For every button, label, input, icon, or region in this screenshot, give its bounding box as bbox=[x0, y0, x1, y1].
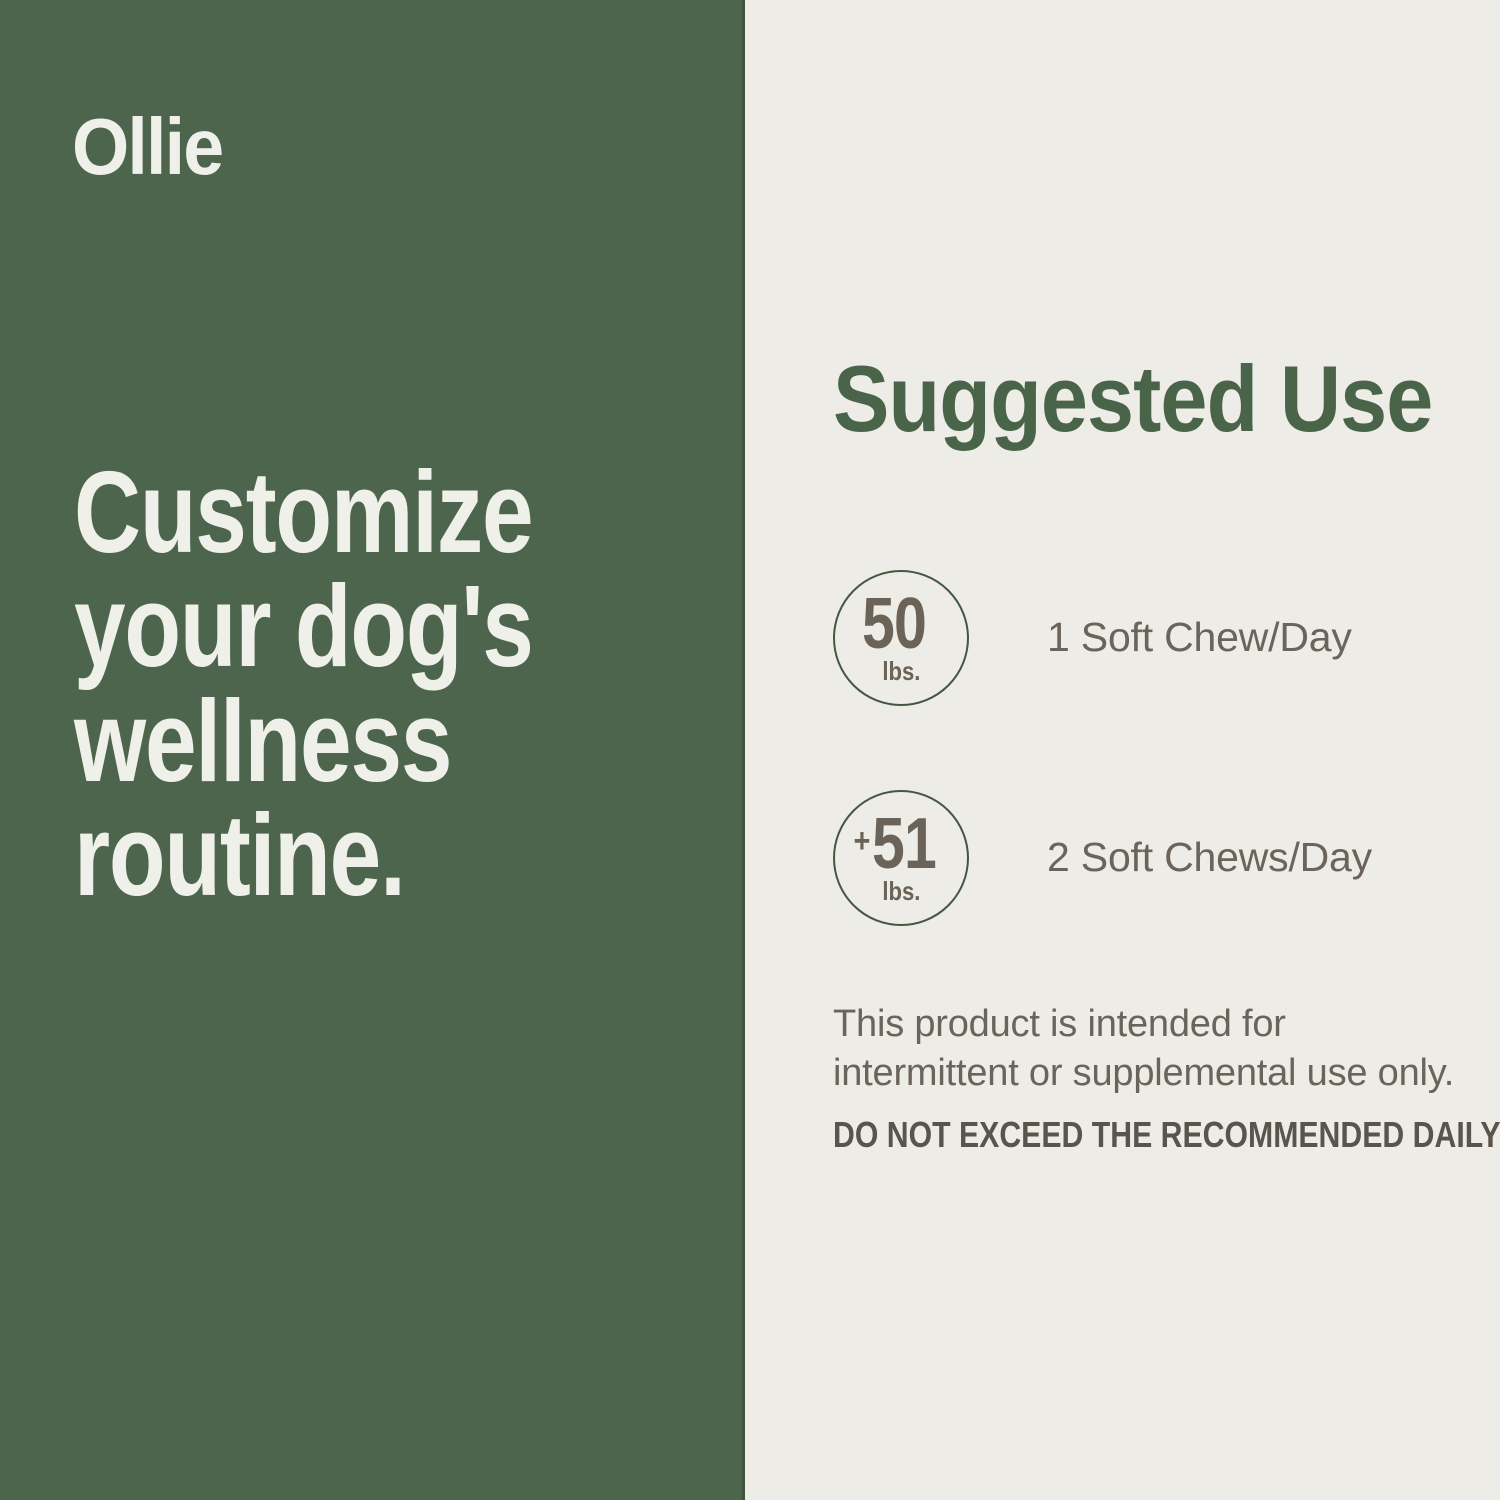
headline-line-4: routine. bbox=[74, 798, 570, 912]
badge-weight-value: + 51 bbox=[852, 812, 951, 877]
dose-row: + 51 lbs. 2 Soft Chews/Day bbox=[833, 790, 1372, 926]
dosage-warning: DO NOT EXCEED THE RECOMMENDED DAILY AMOU… bbox=[833, 1115, 1500, 1155]
headline-line-3: wellness bbox=[74, 684, 570, 798]
badge-plus-sign: + bbox=[853, 824, 870, 858]
badge-unit-label: lbs. bbox=[882, 878, 920, 904]
disclaimer-line-1: This product is intended for bbox=[833, 1000, 1473, 1049]
weight-badge-icon: + 51 lbs. bbox=[833, 790, 969, 926]
right-usage-panel: Suggested Use 50 lbs. 1 Soft Chew/Day + … bbox=[745, 0, 1500, 1500]
product-info-poster: Ollie Customize your dog's wellness rout… bbox=[0, 0, 1500, 1500]
suggested-use-title: Suggested Use bbox=[833, 352, 1432, 446]
ollie-logo: Ollie bbox=[72, 108, 222, 186]
headline-line-2: your dog's bbox=[74, 569, 570, 683]
badge-number: 51 bbox=[872, 812, 936, 877]
left-brand-panel: Ollie Customize your dog's wellness rout… bbox=[0, 0, 745, 1500]
disclaimer-line-2: intermittent or supplemental use only. bbox=[833, 1049, 1473, 1098]
usage-disclaimer: This product is intended for intermitten… bbox=[833, 1000, 1473, 1099]
badge-number: 50 bbox=[862, 592, 926, 657]
dose-description: 1 Soft Chew/Day bbox=[1047, 615, 1352, 660]
dose-row: 50 lbs. 1 Soft Chew/Day bbox=[833, 570, 1352, 706]
badge-unit-label: lbs. bbox=[882, 658, 920, 684]
weight-badge-icon: 50 lbs. bbox=[833, 570, 969, 706]
headline-line-1: Customize bbox=[74, 455, 570, 569]
badge-weight-value: 50 bbox=[861, 592, 940, 657]
dose-description: 2 Soft Chews/Day bbox=[1047, 835, 1372, 880]
hero-headline: Customize your dog's wellness routine. bbox=[74, 455, 694, 912]
